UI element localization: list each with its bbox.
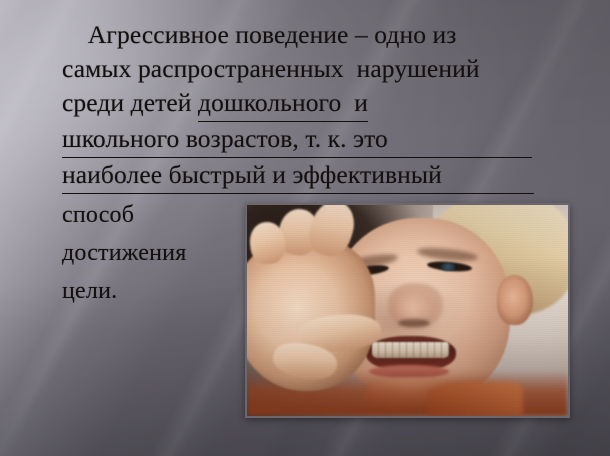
text-line-2-wrap: самых распространенных нарушений [62,52,574,86]
text-line-3-underlined: дошкольного и [198,86,368,122]
text-line-5-wrap: наиболее быстрый и эффективный [62,158,574,194]
text-line-3-wrap: среди детей дошкольного и [62,86,574,122]
paragraph: Агрессивное поведение – одно из самых ра… [62,18,574,194]
text-line-4-underlined: школьного возрастов, т. к. это [62,122,532,158]
text-line-2: самых распространенных нарушений [62,52,574,86]
tail-line-1: способ [62,196,252,234]
slide-canvas: Агрессивное поведение – одно из самых ра… [0,0,610,456]
slide-body-text-continued: способ достижения цели. [62,196,252,310]
photo-content [247,205,568,416]
text-line-1-wrap: Агрессивное поведение – одно из [62,18,574,52]
text-line-5-underlined: наиболее быстрый и эффективный [62,158,534,194]
tail-line-2: достижения [62,234,252,272]
tail-line-3: цели. [62,272,252,310]
text-line-3-plain: среди детей [62,88,198,117]
slide-body-text: Агрессивное поведение – одно из самых ра… [62,18,574,194]
text-line-1: Агрессивное поведение – одно из [62,18,574,52]
angry-child-photo [245,203,570,418]
photo-tone-overlay [247,205,568,416]
text-line-4-wrap: школьного возрастов, т. к. это [62,122,574,158]
